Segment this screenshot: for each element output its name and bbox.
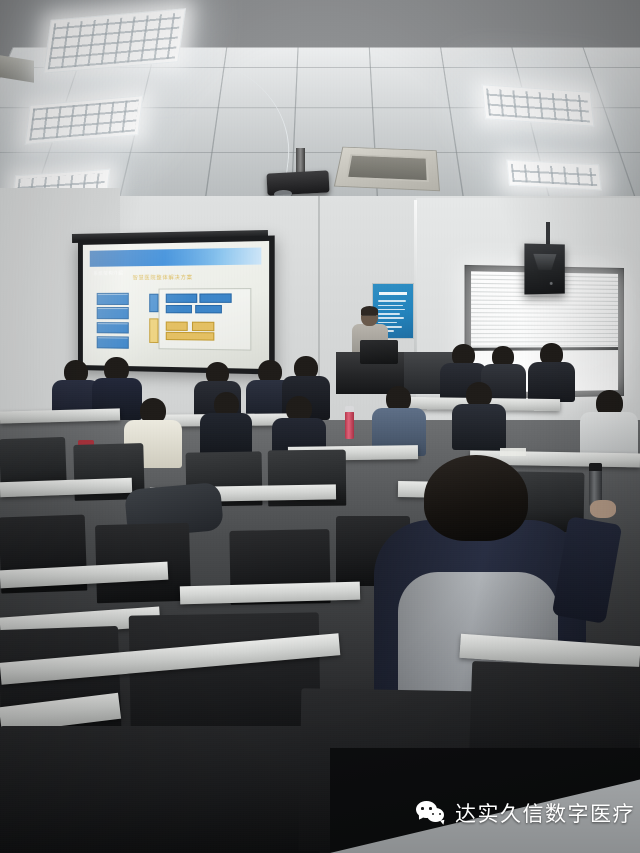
slide-menu-box-1 <box>97 293 129 305</box>
slide-node-1 <box>166 294 198 304</box>
recessed-louver-panel-5-icon <box>506 160 601 191</box>
classroom-presentation-photo: 系统架构介绍 智慧医院整体解决方案 <box>0 0 640 853</box>
wall-seam <box>318 196 320 386</box>
slide-node-2 <box>199 294 232 304</box>
poster-text-line <box>378 309 405 310</box>
slide-header-text: 系统架构介绍 <box>93 271 123 277</box>
thermos-cap <box>589 463 602 471</box>
slide-menu-box-2 <box>97 307 129 319</box>
presenter-hair <box>361 306 378 315</box>
slide-title-text: 智慧医院整体解决方案 <box>133 274 193 282</box>
slide-side-bar-gold <box>149 319 158 343</box>
projection-screen: 系统架构介绍 智慧医院整体解决方案 <box>78 235 275 374</box>
slide-menu-box-3 <box>97 322 129 334</box>
seat-back <box>0 726 320 853</box>
slide-node-gold-1 <box>166 321 189 331</box>
water-bottle <box>345 411 354 439</box>
attendee-foreground-head <box>424 455 528 541</box>
slide-header-band <box>90 247 261 266</box>
poster-title-bar <box>379 292 408 295</box>
slide-node-gold-3 <box>166 332 215 341</box>
podium-laptop <box>360 340 398 364</box>
paper-sheet <box>500 448 526 456</box>
wall-speaker <box>524 244 564 295</box>
slide-menu-box-4 <box>97 336 129 348</box>
speaker-led-icon <box>550 282 553 285</box>
speaker-cone-icon <box>533 254 556 270</box>
projection-screen-surface: 系统架构介绍 智慧医院整体解决方案 <box>83 241 269 369</box>
slide-node-4 <box>196 305 223 313</box>
slide-node-3 <box>166 305 192 313</box>
poster-text-line <box>378 305 403 306</box>
cassette-ac-unit <box>334 147 440 191</box>
attendee-hand <box>590 500 616 518</box>
slide-node-gold-2 <box>192 321 215 331</box>
slide-side-bar-blue <box>149 294 158 312</box>
water-bottle-cap <box>345 406 354 412</box>
poster-text-line <box>378 300 406 301</box>
poster-text-line <box>378 313 400 314</box>
presenter-glasses-icon <box>362 315 376 319</box>
poster-text-line <box>378 322 397 323</box>
poster-text-line <box>378 317 404 318</box>
